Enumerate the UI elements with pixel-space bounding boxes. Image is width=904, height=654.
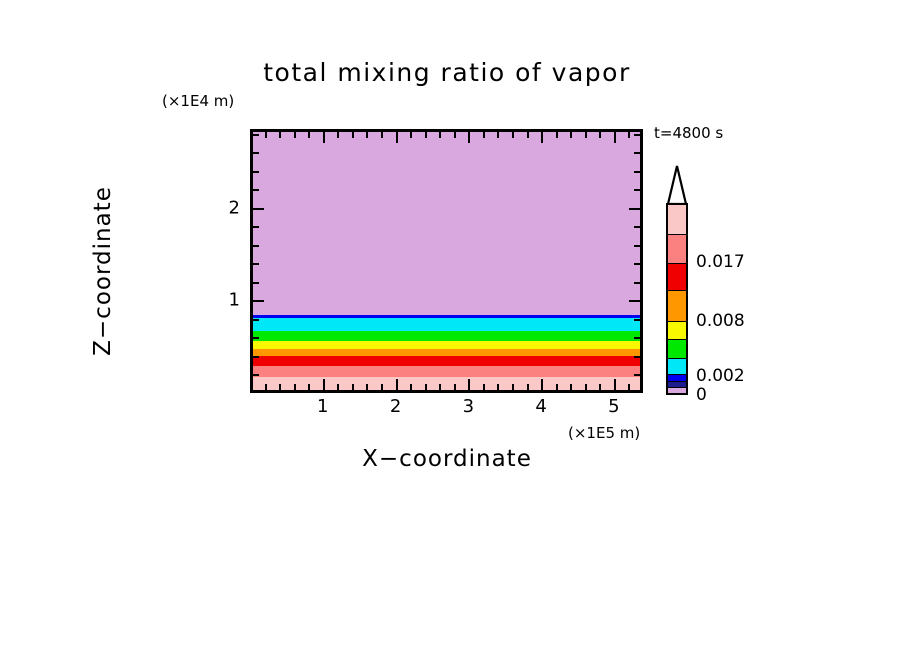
y-minor-tick	[253, 152, 259, 154]
colorbar-band	[668, 205, 686, 234]
x-major-tick	[541, 132, 543, 143]
x-axis-title: X−coordinate	[250, 446, 644, 472]
x-tick-label: 2	[390, 396, 401, 417]
y-minor-tick	[634, 319, 640, 321]
x-major-tick	[323, 132, 325, 143]
page-title: total mixing ratio of vapor	[250, 58, 644, 87]
y-minor-tick	[634, 356, 640, 358]
x-tick-label: 4	[535, 396, 546, 417]
y-minor-tick	[253, 245, 259, 247]
colorbar-band	[668, 290, 686, 320]
colorbar-band	[668, 387, 686, 393]
colorbar-band	[668, 263, 686, 290]
x-minor-tick	[294, 384, 296, 390]
y-minor-tick	[253, 134, 259, 136]
x-minor-tick	[265, 132, 267, 138]
x-minor-tick	[279, 384, 281, 390]
x-minor-tick	[585, 132, 587, 138]
field-band	[253, 366, 640, 377]
x-minor-tick	[366, 384, 368, 390]
x-minor-tick	[599, 132, 601, 138]
x-minor-tick	[454, 132, 456, 138]
x-minor-tick	[352, 384, 354, 390]
y-minor-tick	[634, 282, 640, 284]
field-band	[253, 331, 640, 341]
y-minor-tick	[253, 374, 259, 376]
x-tick-label: 3	[463, 396, 474, 417]
x-major-tick	[396, 132, 398, 143]
x-minor-tick	[337, 132, 339, 138]
y-minor-tick	[634, 337, 640, 339]
x-minor-tick	[294, 132, 296, 138]
x-minor-tick	[585, 384, 587, 390]
x-minor-tick	[570, 384, 572, 390]
x-major-tick	[614, 379, 616, 390]
y-major-tick	[629, 208, 640, 210]
colorbar-band	[668, 339, 686, 358]
x-minor-tick	[483, 384, 485, 390]
x-minor-tick	[308, 384, 310, 390]
x-minor-tick	[352, 132, 354, 138]
y-minor-tick	[634, 189, 640, 191]
x-minor-tick	[512, 132, 514, 138]
x-minor-tick	[439, 384, 441, 390]
x-minor-tick	[483, 132, 485, 138]
y-minor-tick	[253, 171, 259, 173]
x-tick-label: 1	[317, 396, 328, 417]
colorbar-tick-label: 0	[696, 385, 707, 405]
colorbar-tick-label: 0.002	[696, 366, 745, 386]
colorbar-band	[668, 358, 686, 375]
y-minor-tick	[253, 226, 259, 228]
x-minor-tick	[381, 132, 383, 138]
time-annotation: t=4800 s	[654, 124, 723, 142]
colorbar-arrow-icon	[666, 165, 688, 205]
y-minor-tick	[634, 226, 640, 228]
x-minor-tick	[527, 132, 529, 138]
x-major-tick	[468, 132, 470, 143]
y-minor-tick	[253, 189, 259, 191]
x-minor-tick	[556, 132, 558, 138]
x-minor-tick	[308, 132, 310, 138]
y-minor-tick	[634, 134, 640, 136]
field-band	[253, 349, 640, 356]
plot-area	[250, 129, 643, 393]
x-minor-tick	[497, 132, 499, 138]
colorbar-tick-label: 0.017	[696, 252, 745, 272]
x-minor-tick	[497, 384, 499, 390]
y-major-tick	[253, 208, 264, 210]
y-minor-tick	[634, 263, 640, 265]
field-band	[253, 318, 640, 331]
y-minor-tick	[253, 282, 259, 284]
y-major-tick	[629, 300, 640, 302]
y-minor-tick	[634, 171, 640, 173]
x-minor-tick	[265, 384, 267, 390]
field-band	[253, 132, 640, 315]
x-minor-tick	[410, 384, 412, 390]
x-minor-tick	[410, 132, 412, 138]
y-minor-tick	[634, 245, 640, 247]
y-minor-tick	[253, 263, 259, 265]
x-minor-tick	[570, 132, 572, 138]
colorbar-band	[668, 374, 686, 381]
field-band	[253, 356, 640, 366]
x-minor-tick	[599, 384, 601, 390]
x-minor-tick	[512, 384, 514, 390]
colorbar-band	[668, 234, 686, 262]
x-major-tick	[468, 379, 470, 390]
x-minor-tick	[628, 132, 630, 138]
y-minor-tick	[634, 374, 640, 376]
colorbar	[666, 165, 688, 395]
colorbar-bands	[666, 203, 688, 395]
field-band	[253, 377, 640, 390]
y-major-tick	[253, 300, 264, 302]
x-major-tick	[541, 379, 543, 390]
x-minor-tick	[454, 384, 456, 390]
colorbar-tick-label: 0.008	[696, 311, 745, 331]
field-band	[253, 341, 640, 349]
y-axis-unit-label: (×1E4 m)	[162, 92, 234, 110]
y-minor-tick	[253, 319, 259, 321]
x-minor-tick	[366, 132, 368, 138]
y-tick-label: 1	[222, 290, 240, 311]
x-minor-tick	[337, 384, 339, 390]
x-major-tick	[614, 132, 616, 143]
x-minor-tick	[279, 132, 281, 138]
x-major-tick	[396, 379, 398, 390]
x-minor-tick	[425, 132, 427, 138]
y-minor-tick	[253, 356, 259, 358]
x-major-tick	[323, 379, 325, 390]
y-tick-label: 2	[222, 197, 240, 218]
x-minor-tick	[381, 384, 383, 390]
x-minor-tick	[439, 132, 441, 138]
x-minor-tick	[628, 384, 630, 390]
colorbar-band	[668, 321, 686, 340]
x-minor-tick	[527, 384, 529, 390]
x-minor-tick	[556, 384, 558, 390]
x-minor-tick	[425, 384, 427, 390]
contour-field	[253, 132, 640, 390]
x-tick-label: 5	[608, 396, 619, 417]
y-minor-tick	[253, 337, 259, 339]
y-axis-title: Z−coordinate	[90, 121, 116, 421]
y-minor-tick	[634, 152, 640, 154]
x-axis-unit-label: (×1E5 m)	[568, 424, 640, 442]
